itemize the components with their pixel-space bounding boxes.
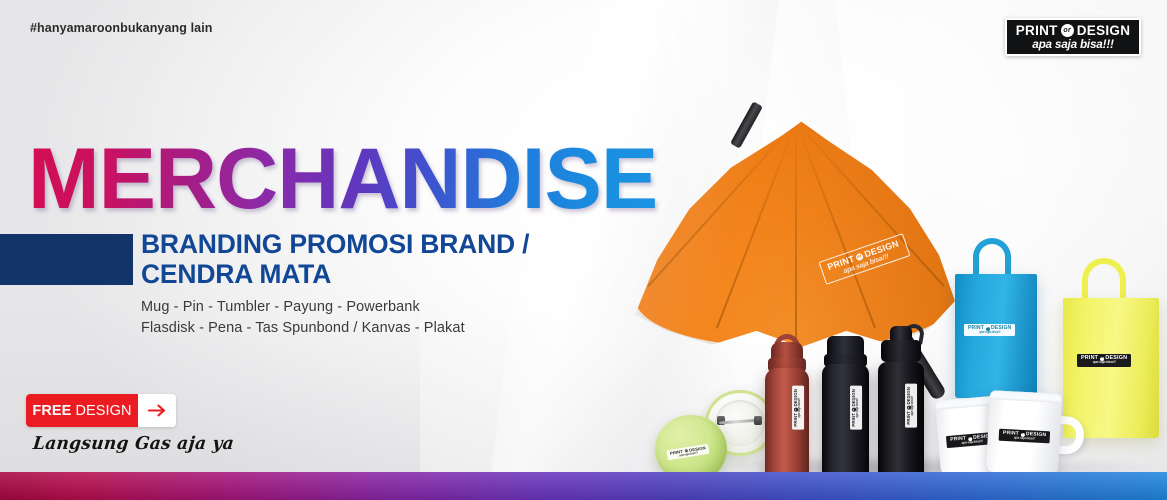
mug1-logo-or-badge: or bbox=[968, 436, 972, 440]
tumbler1-logo-word-design: DESIGN bbox=[794, 389, 798, 406]
mug-left-rim bbox=[935, 395, 1002, 410]
mug2-logo-word-design: DESIGN bbox=[1026, 432, 1047, 438]
tumbler2-logo-tagline: apa saja bisa!!! bbox=[856, 389, 859, 427]
cta-free-text: FREE bbox=[32, 403, 71, 419]
pin-logo-or-badge: or bbox=[684, 449, 688, 453]
tumbler-navy-cap bbox=[827, 336, 864, 358]
tumbler3-logo-word-print: PRINT bbox=[907, 411, 911, 425]
tumbler2-logo-or-badge: or bbox=[852, 408, 856, 412]
mug-left-handle bbox=[996, 413, 1027, 453]
tote-cyan-logo-word-print: PRINT bbox=[968, 326, 984, 331]
tumbler-black-spout bbox=[890, 326, 912, 346]
tote-yellow-logo-or-badge: or bbox=[1100, 357, 1104, 361]
pin-hinge bbox=[717, 416, 725, 425]
bottom-gradient-strip bbox=[0, 472, 1167, 500]
umbrella-shaft bbox=[866, 275, 935, 377]
product-tote-bag-yellow: PRINT or DESIGN apa saja bisa!!! bbox=[1063, 258, 1159, 438]
pin-logo-word-print: PRINT bbox=[670, 449, 684, 455]
product-mug-left: PRINT or DESIGN apa saja bisa!!! bbox=[935, 395, 1007, 476]
tumbler2-logo-word-print: PRINT bbox=[852, 413, 856, 427]
arrow-right-icon[interactable] bbox=[138, 394, 176, 427]
headline-line-1: BRANDING PROMOSI BRAND / bbox=[141, 230, 661, 260]
product-list-line-2: Flasdisk - Pena - Tas Spunbond / Kanvas … bbox=[141, 318, 465, 339]
mug1-logo-word-design: DESIGN bbox=[973, 434, 994, 441]
tote-yellow-handle bbox=[1082, 258, 1126, 304]
tote-yellow-print-logo: PRINT or DESIGN apa saja bisa!!! bbox=[1077, 354, 1131, 367]
tote-yellow-logo-tagline: apa saja bisa!!! bbox=[1081, 361, 1127, 365]
merchandise-promo-banner: #hanyamaroonbukanyang lain PRINT or DESI… bbox=[0, 0, 1167, 500]
navy-accent-block bbox=[0, 234, 133, 285]
pin-clasp bbox=[719, 419, 761, 424]
tumbler-black-print-logo: PRINT or DESIGN apa saja bisa!!! bbox=[905, 384, 917, 428]
product-list: Mug - Pin - Tumbler - Payung - Powerbank… bbox=[141, 297, 465, 340]
tumbler-black-carry-handle bbox=[903, 322, 926, 344]
umbrella-handle bbox=[902, 341, 948, 402]
mug2-logo-tagline: apa saja bisa!!! bbox=[1003, 436, 1046, 442]
headline-line-2: CENDRA MATA bbox=[141, 260, 661, 290]
mug-left-print-logo: PRINT or DESIGN apa saja bisa!!! bbox=[946, 432, 998, 449]
tumbler1-logo-or-badge: or bbox=[794, 408, 798, 412]
tumbler-black-cap bbox=[881, 340, 921, 362]
tote-cyan-handle bbox=[973, 238, 1011, 284]
tumbler-maroon-collar bbox=[768, 358, 806, 372]
product-pin-badge-back bbox=[705, 390, 775, 456]
tote-yellow-logo-word-print: PRINT bbox=[1081, 356, 1098, 361]
tote-cyan-logo-word-design: DESIGN bbox=[991, 326, 1011, 331]
umbrella-tip bbox=[730, 101, 763, 148]
brand-logo-or-badge: or bbox=[1061, 24, 1074, 37]
pin-print-logo: PRINT or DESIGN apa saja bisa!!! bbox=[666, 444, 709, 461]
tote-cyan-logo-tagline: apa saja bisa!!! bbox=[968, 331, 1011, 334]
free-design-button[interactable]: FREE DESIGN bbox=[26, 394, 176, 427]
mug-right-rim bbox=[990, 390, 1062, 403]
tumbler1-logo-tagline: apa saja bisa!!! bbox=[798, 389, 801, 427]
tumbler-navy-collar bbox=[824, 354, 867, 367]
tote-cyan-body bbox=[955, 274, 1037, 398]
product-mug-right: PRINT or DESIGN apa saja bisa!!! bbox=[986, 390, 1062, 476]
tote-cyan-logo-or-badge: or bbox=[986, 327, 990, 331]
mug2-logo-or-badge: or bbox=[1020, 432, 1024, 436]
brand-logo: PRINT or DESIGN apa saja bisa!!! bbox=[1005, 18, 1141, 56]
tumbler-navy-print-logo: PRINT or DESIGN apa saja bisa!!! bbox=[850, 386, 862, 430]
tumbler3-logo-or-badge: or bbox=[907, 406, 911, 410]
umbrella-logo-or-badge: or bbox=[855, 252, 864, 261]
tumbler-navy-body bbox=[822, 364, 869, 486]
product-tote-bag-cyan: PRINT or DESIGN apa saja bisa!!! bbox=[955, 238, 1037, 398]
cta-design-text: DESIGN bbox=[75, 403, 131, 419]
page-title: MERCHANDISE bbox=[28, 136, 657, 222]
mug-right-print-logo: PRINT or DESIGN apa saja bisa!!! bbox=[999, 429, 1051, 444]
mug-right-handle bbox=[1055, 416, 1085, 455]
umbrella-logo-tagline: apa saja bisa!!! bbox=[830, 249, 903, 280]
pin-catch bbox=[754, 416, 762, 425]
product-tumbler-navy: PRINT or DESIGN apa saja bisa!!! bbox=[822, 330, 869, 486]
tote-cyan-print-logo: PRINT or DESIGN apa saja bisa!!! bbox=[964, 324, 1015, 336]
tumbler1-logo-word-print: PRINT bbox=[794, 413, 798, 427]
brand-logo-word-print: PRINT bbox=[1016, 24, 1058, 38]
hashtag-text: #hanyamaroonbukanyang lain bbox=[30, 21, 213, 35]
tumbler-maroon-body bbox=[765, 368, 809, 486]
umbrella-print-logo: PRINT or DESIGN apa saja bisa!!! bbox=[819, 233, 911, 285]
tumbler-maroon-print-logo: PRINT or DESIGN apa saja bisa!!! bbox=[792, 386, 804, 430]
tote-yellow-body bbox=[1063, 298, 1159, 438]
pin-logo-tagline: apa saja bisa!!! bbox=[670, 450, 706, 459]
tumbler3-logo-tagline: apa saja bisa!!! bbox=[911, 387, 914, 425]
brand-logo-wordmark: PRINT or DESIGN bbox=[1012, 24, 1134, 38]
headline: BRANDING PROMOSI BRAND / CENDRA MATA bbox=[141, 230, 661, 290]
pin-back-plate bbox=[715, 400, 765, 446]
brand-logo-word-design: DESIGN bbox=[1077, 24, 1131, 38]
umbrella-canopy bbox=[635, 117, 955, 347]
mug-left-body bbox=[935, 395, 1007, 476]
product-tumbler-maroon: PRINT or DESIGN apa saja bisa!!! bbox=[765, 334, 809, 486]
tote-yellow-logo-word-design: DESIGN bbox=[1105, 356, 1127, 361]
product-tumbler-black: PRINT or DESIGN apa saja bisa!!! bbox=[878, 326, 924, 486]
mug2-logo-word-print: PRINT bbox=[1003, 431, 1019, 437]
background-fold bbox=[665, 0, 885, 472]
tumbler2-logo-word-design: DESIGN bbox=[852, 389, 856, 406]
mug1-logo-tagline: apa saja bisa!!! bbox=[951, 439, 995, 446]
tumbler-maroon-cap bbox=[771, 342, 803, 364]
product-umbrella: PRINT or DESIGN apa saja bisa!!! bbox=[615, 62, 975, 392]
pin-logo-word-design: DESIGN bbox=[689, 446, 706, 453]
free-design-button-label[interactable]: FREE DESIGN bbox=[26, 394, 138, 427]
mug-right-body bbox=[986, 390, 1062, 476]
umbrella-logo-word-print: PRINT bbox=[826, 254, 855, 272]
brand-logo-tagline: apa saja bisa!!! bbox=[1011, 39, 1135, 51]
tumbler-maroon-loop bbox=[774, 334, 800, 351]
tumbler-black-body bbox=[878, 362, 924, 486]
product-list-line-1: Mug - Pin - Tumbler - Payung - Powerbank bbox=[141, 297, 465, 318]
tumbler3-logo-word-design: DESIGN bbox=[907, 387, 911, 404]
mug1-logo-word-print: PRINT bbox=[950, 436, 966, 442]
umbrella-logo-word-design: DESIGN bbox=[863, 239, 900, 259]
cta-script-text: Langsung Gas aja ya bbox=[32, 434, 235, 455]
cta-section: FREE DESIGN Langsung Gas aja ya bbox=[26, 394, 234, 454]
